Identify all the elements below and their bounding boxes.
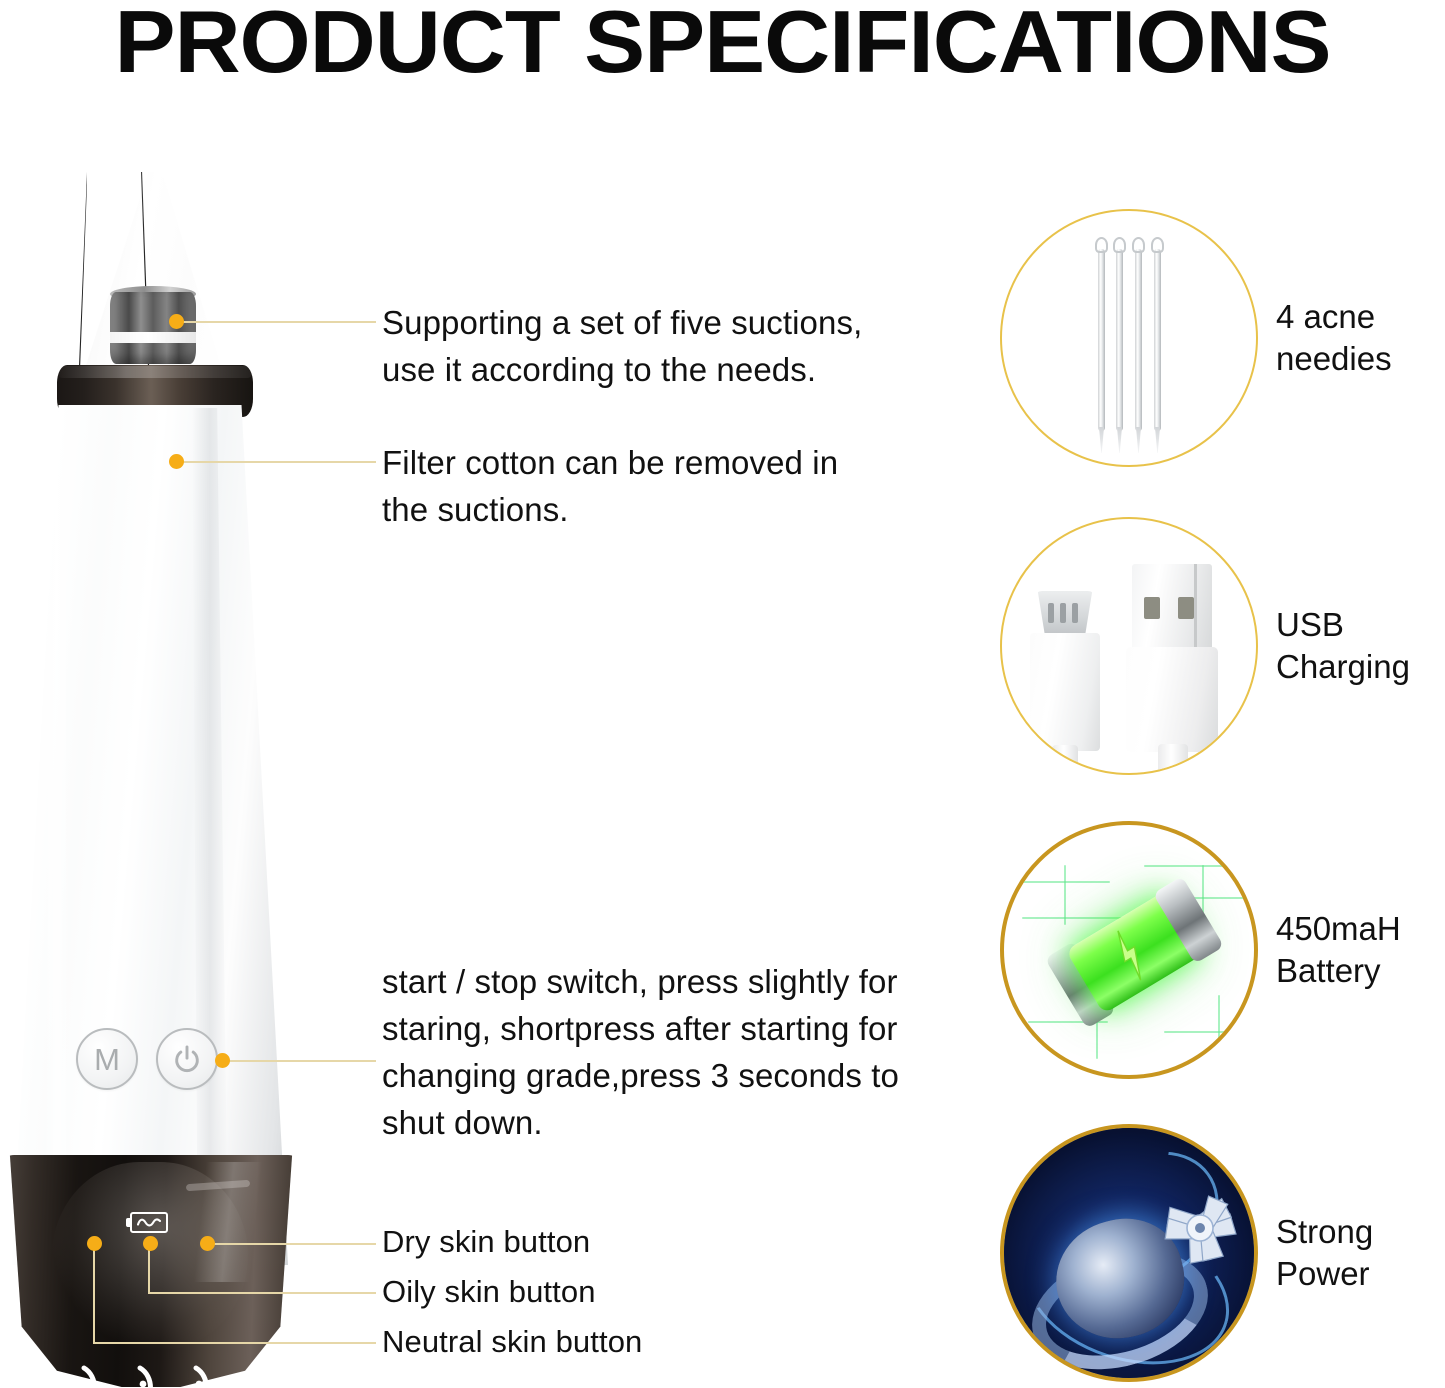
power-button[interactable] (156, 1028, 218, 1090)
circuit-trace (1218, 995, 1220, 1061)
needle-loop-2 (1113, 237, 1126, 253)
battery-icon-wave (137, 1218, 161, 1227)
leader-dot-dry (200, 1236, 215, 1251)
leader-line-start-stop (222, 1060, 376, 1062)
mode-button-label: M (94, 1044, 120, 1075)
indicator-oil-icon (76, 1362, 112, 1388)
indicator-neutr-icon (132, 1362, 168, 1388)
leader-vert-neutral (93, 1243, 95, 1343)
feature-usb-charging: USB Charging (1000, 508, 1445, 784)
acne-needles-icon (1000, 209, 1258, 467)
turbine-fan-blades (1152, 1180, 1248, 1276)
needle-loop-1 (1095, 237, 1108, 253)
page-title: PRODUCT SPECIFICATIONS (0, 0, 1445, 90)
leader-line-oily (148, 1292, 376, 1294)
power-icon (172, 1044, 202, 1074)
callout-neutral-skin-button: Neutral skin button (382, 1322, 642, 1362)
leader-dot-neutral (87, 1236, 102, 1251)
callout-oily-skin-button: Oily skin button (382, 1272, 596, 1312)
mode-button[interactable]: M (76, 1028, 138, 1090)
leader-line-suctions (176, 321, 376, 323)
needle-loop-4 (1151, 237, 1164, 253)
callout-filter-cotton: Filter cotton can be removed in the suct… (382, 439, 962, 533)
micro-usb-cable (1052, 745, 1078, 775)
device-illustration: M Oil n (0, 150, 320, 1388)
needle-4 (1154, 249, 1161, 431)
suction-head (110, 292, 196, 364)
battery-cell-icon (1000, 821, 1258, 1079)
needle-loop-3 (1132, 237, 1145, 253)
needle-tip-2 (1117, 427, 1122, 453)
usb-a-cable (1158, 744, 1188, 775)
usb-a-body (1126, 647, 1218, 752)
needle-1 (1098, 249, 1105, 431)
leader-dot-start-stop (215, 1053, 230, 1068)
micro-usb-pin-2 (1060, 603, 1066, 623)
leader-dot-filter-cotton (169, 454, 184, 469)
circuit-trace (1202, 865, 1204, 913)
feature-label-battery: 450maH Battery (1276, 908, 1401, 992)
usb-a-slot-2 (1178, 597, 1194, 619)
suction-head-band (110, 332, 196, 343)
indicator-dry-icon (188, 1362, 224, 1388)
micro-usb-body (1030, 633, 1100, 751)
callout-start-stop-switch: start / stop switch, press slightly for … (382, 958, 982, 1146)
nozzle-edge-left (78, 172, 87, 390)
circuit-trace (1144, 865, 1248, 867)
leader-line-dry (214, 1243, 376, 1245)
usb-a-slot-1 (1144, 597, 1160, 619)
needle-tip-3 (1136, 427, 1141, 453)
feature-acne-needles: 4 acne needies (1000, 200, 1445, 476)
usb-a-divider (1194, 564, 1197, 652)
device-body-highlight-left (44, 408, 70, 1263)
product-specifications-page: PRODUCT SPECIFICATIONS M (0, 0, 1445, 1388)
feature-strong-power: Strong Power (1000, 1115, 1445, 1388)
micro-usb-pin-1 (1048, 603, 1054, 623)
usb-cable-icon (1000, 517, 1258, 775)
feature-label-strong-power: Strong Power (1276, 1211, 1373, 1295)
feature-label-acne-needles: 4 acne needies (1276, 296, 1392, 380)
circuit-trace (1164, 1031, 1248, 1033)
device-collar-shine (57, 366, 253, 378)
needle-tip-1 (1099, 427, 1104, 453)
turbine-motor-icon (1000, 1124, 1258, 1382)
leader-dot-oily (143, 1236, 158, 1251)
needle-tip-4 (1155, 427, 1160, 453)
needle-3 (1135, 249, 1142, 431)
circuit-trace (1064, 865, 1066, 925)
leader-line-filter-cotton (176, 461, 376, 463)
callout-suctions: Supporting a set of five suctions, use i… (382, 299, 962, 393)
leader-line-neutral (93, 1342, 376, 1344)
leader-dot-suctions (169, 314, 184, 329)
micro-usb-pin-3 (1072, 603, 1078, 623)
feature-label-usb-charging: USB Charging (1276, 604, 1410, 688)
callout-dry-skin-button: Dry skin button (382, 1222, 590, 1262)
needle-2 (1116, 249, 1123, 431)
battery-icon (126, 1212, 170, 1233)
feature-battery: 450maH Battery (1000, 812, 1445, 1088)
